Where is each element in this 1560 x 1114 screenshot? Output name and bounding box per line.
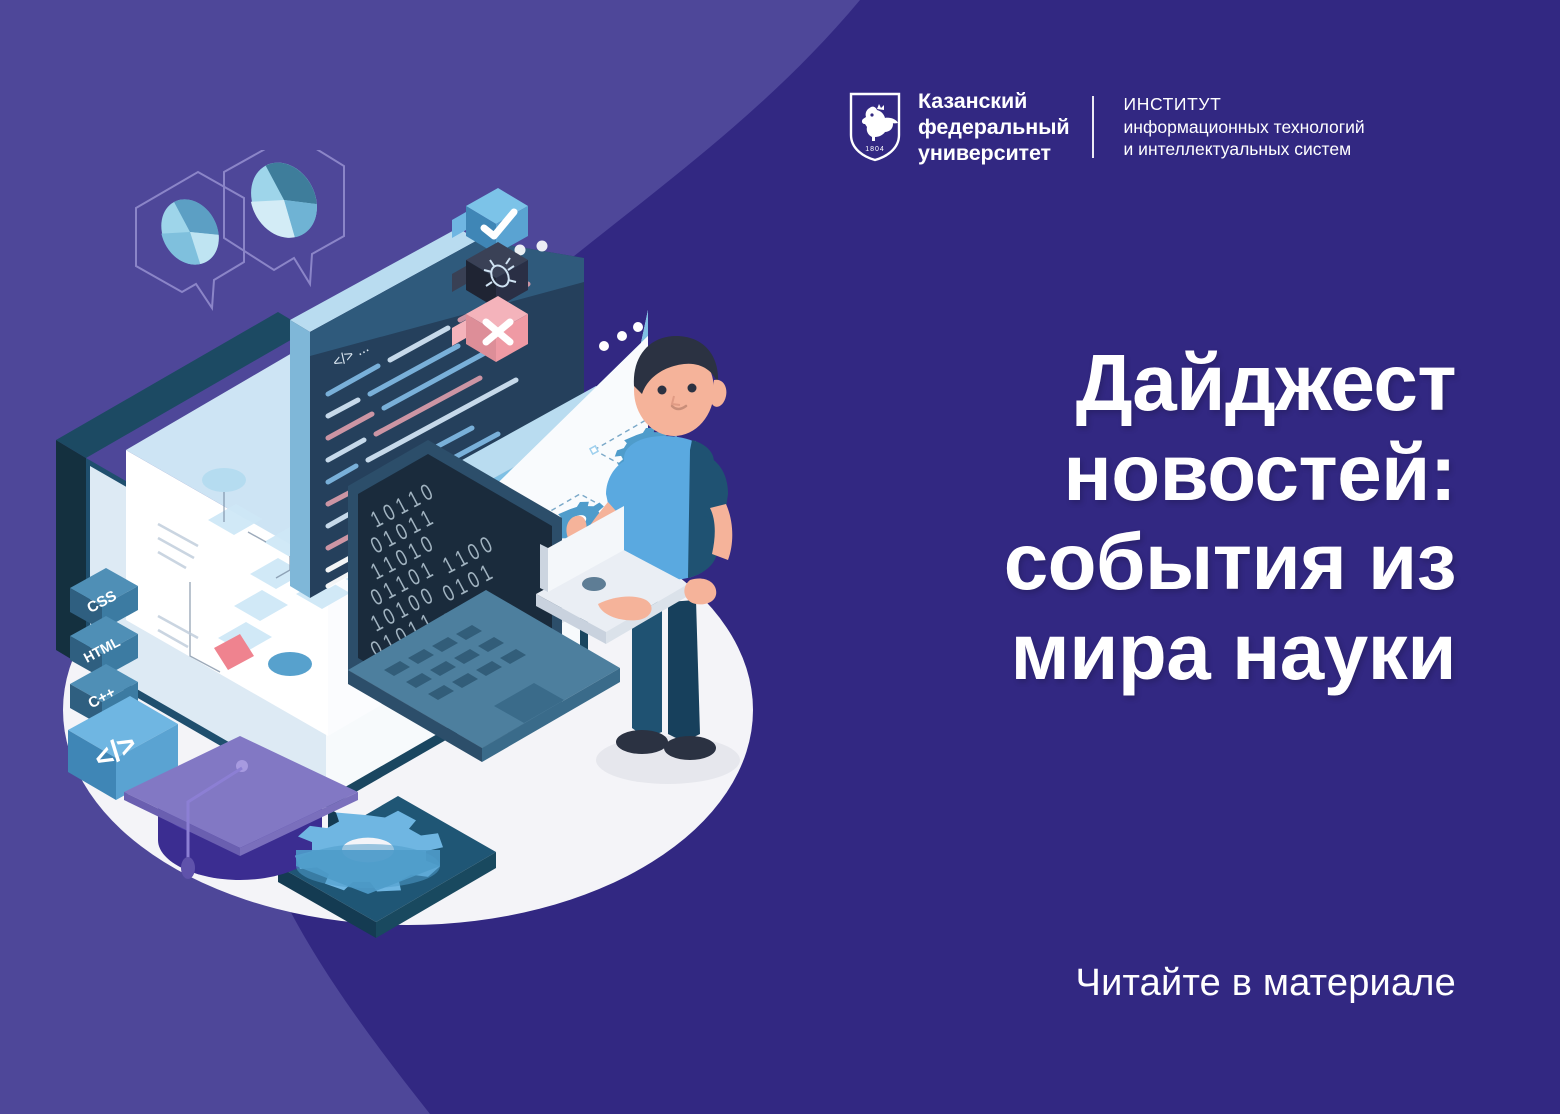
cta-text: Читайте в материале [836, 962, 1456, 1005]
kfu-line-3: университет [918, 140, 1070, 166]
logo-divider [1092, 96, 1094, 158]
kfu-university-name: Казанский федеральный университет [918, 88, 1070, 166]
kfu-snow-leopard-shield-icon: 1804 [848, 91, 902, 163]
page-title-line-3: события из [836, 517, 1456, 607]
page-title: Дайджест новостей: события из мира науки [836, 338, 1456, 696]
page-title-line-1: Дайджест [836, 338, 1456, 428]
poster-canvas: CSS HTML C++ </> [0, 0, 1560, 1114]
isometric-workspace-svg: CSS HTML C++ </> [28, 150, 828, 950]
hero-illustration: CSS HTML C++ </> [28, 150, 828, 950]
institute-line-3: и интеллектуальных систем [1124, 138, 1365, 161]
page-title-line-4: мира науки [836, 607, 1456, 697]
status-badges [452, 188, 528, 362]
institute-line-1: ИНСТИТУТ [1124, 93, 1365, 116]
institute-line-2: информационных технологий [1124, 116, 1365, 139]
kfu-institute-name: ИНСТИТУТ информационных технологий и инт… [1124, 93, 1365, 161]
kfu-logo: 1804 Казанский федеральный университет И… [848, 88, 1365, 166]
page-title-line-2: новостей: [836, 428, 1456, 518]
kfu-line-2: федеральный [918, 114, 1070, 140]
kfu-line-1: Казанский [918, 88, 1070, 114]
shield-year-label: 1804 [865, 146, 885, 153]
